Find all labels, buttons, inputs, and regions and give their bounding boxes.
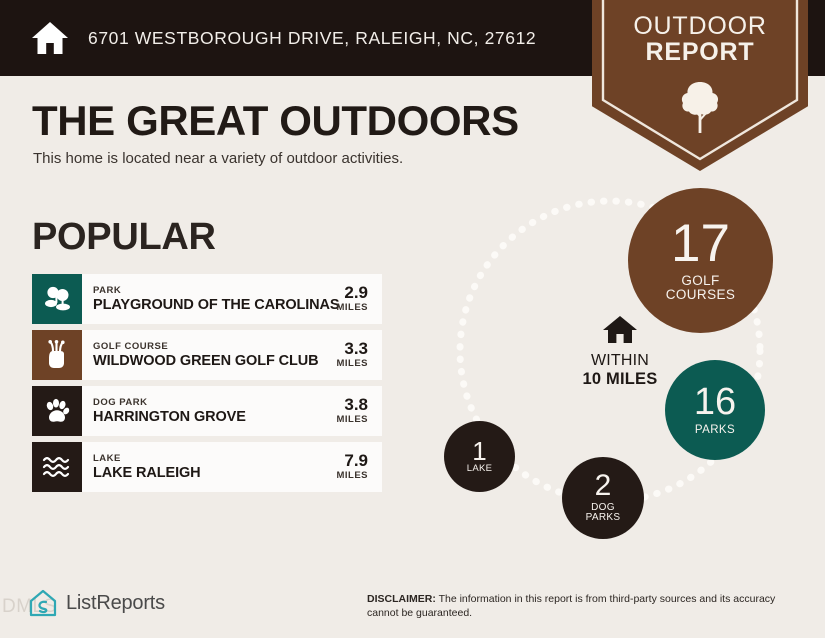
stat-label: DOG PARKS: [586, 503, 621, 524]
popular-places-list: PARK PLAYGROUND OF THE CAROLINAS 2.9 MIL…: [32, 274, 382, 498]
badge-line-1: OUTDOOR: [592, 14, 808, 40]
stat-label-line2: PARKS: [586, 512, 621, 523]
distance-value: 2.9: [336, 284, 368, 302]
park-trees-icon: [32, 274, 82, 324]
stat-bubble-parks[interactable]: 16 PARKS: [665, 360, 765, 460]
page-title: THE GREAT OUTDOORS: [32, 97, 519, 145]
stat-label: GOLF COURSES: [666, 274, 736, 302]
proximity-diagram: WITHIN 10 MILES 17 GOLF COURSES 16 PARKS…: [420, 170, 820, 570]
paw-print-icon: [32, 386, 82, 436]
list-item-name: LAKE RALEIGH: [93, 465, 336, 482]
disclaimer-label: DISCLAIMER:: [367, 593, 436, 605]
stat-bubble-golf-courses[interactable]: 17 GOLF COURSES: [628, 188, 773, 333]
list-item-category: PARK: [93, 285, 336, 297]
list-item-name: WILDWOOD GREEN GOLF CLUB: [93, 353, 336, 370]
list-item-body: DOG PARK HARRINGTON GROVE 3.8 MILES: [82, 386, 382, 436]
distance-value: 7.9: [336, 452, 368, 470]
list-item-distance: 2.9 MILES: [336, 284, 376, 314]
list-item-distance: 3.8 MILES: [336, 396, 376, 426]
stat-label: PARKS: [695, 424, 735, 436]
property-address: 6701 WESTBOROUGH DRIVE, RALEIGH, NC, 276…: [88, 28, 536, 49]
list-item[interactable]: DOG PARK HARRINGTON GROVE 3.8 MILES: [32, 386, 382, 436]
list-item[interactable]: GOLF COURSE WILDWOOD GREEN GOLF CLUB 3.3…: [32, 330, 382, 380]
list-item-name: PLAYGROUND OF THE CAROLINAS: [93, 297, 336, 314]
brand-name: ListReports: [66, 592, 165, 615]
disclaimer: DISCLAIMER: The information in this repo…: [367, 592, 792, 620]
stat-label-line1: GOLF: [681, 273, 719, 288]
badge-line-2: REPORT: [592, 40, 808, 66]
stat-count: 2: [595, 472, 612, 501]
stat-label: LAKE: [467, 464, 493, 474]
stat-count: 17: [671, 219, 730, 269]
list-item[interactable]: PARK PLAYGROUND OF THE CAROLINAS 2.9 MIL…: [32, 274, 382, 324]
center-label-line2: 10 MILES: [552, 370, 688, 390]
outdoor-report-badge: OUTDOOR REPORT: [592, 0, 808, 171]
center-label-line1: WITHIN: [552, 351, 688, 370]
distance-unit: MILES: [336, 470, 368, 482]
list-item-body: LAKE LAKE RALEIGH 7.9 MILES: [82, 442, 382, 492]
stat-count: 16: [694, 384, 736, 420]
stat-bubble-dog-parks[interactable]: 2 DOG PARKS: [562, 457, 644, 539]
center-marker: WITHIN 10 MILES: [552, 315, 688, 390]
list-item-distance: 7.9 MILES: [336, 452, 376, 482]
list-item-body: PARK PLAYGROUND OF THE CAROLINAS 2.9 MIL…: [82, 274, 382, 324]
stat-label-line1: DOG: [591, 502, 615, 513]
list-item[interactable]: LAKE LAKE RALEIGH 7.9 MILES: [32, 442, 382, 492]
distance-value: 3.3: [336, 340, 368, 358]
home-icon: [30, 20, 70, 56]
stat-label-line2: COURSES: [666, 287, 736, 302]
list-item-category: LAKE: [93, 453, 336, 465]
list-item-category: GOLF COURSE: [93, 341, 336, 353]
house-logo-icon: [28, 588, 58, 618]
outdoor-report-infographic: 6701 WESTBOROUGH DRIVE, RALEIGH, NC, 276…: [0, 0, 825, 638]
distance-value: 3.8: [336, 396, 368, 414]
badge-title: OUTDOOR REPORT: [592, 14, 808, 65]
tree-icon: [678, 80, 722, 134]
stat-bubble-lake[interactable]: 1 LAKE: [444, 421, 515, 492]
distance-unit: MILES: [336, 302, 368, 314]
page-subtitle: This home is located near a variety of o…: [33, 150, 403, 167]
list-item-body: GOLF COURSE WILDWOOD GREEN GOLF CLUB 3.3…: [82, 330, 382, 380]
list-item-distance: 3.3 MILES: [336, 340, 376, 370]
list-item-category: DOG PARK: [93, 397, 336, 409]
distance-unit: MILES: [336, 358, 368, 370]
golf-bag-icon: [32, 330, 82, 380]
home-icon: [602, 315, 638, 345]
distance-unit: MILES: [336, 414, 368, 426]
water-waves-icon: [32, 442, 82, 492]
listreports-logo[interactable]: ListReports: [28, 588, 165, 618]
stat-count: 1: [472, 439, 486, 464]
list-item-name: HARRINGTON GROVE: [93, 409, 336, 426]
popular-heading: POPULAR: [32, 216, 216, 259]
